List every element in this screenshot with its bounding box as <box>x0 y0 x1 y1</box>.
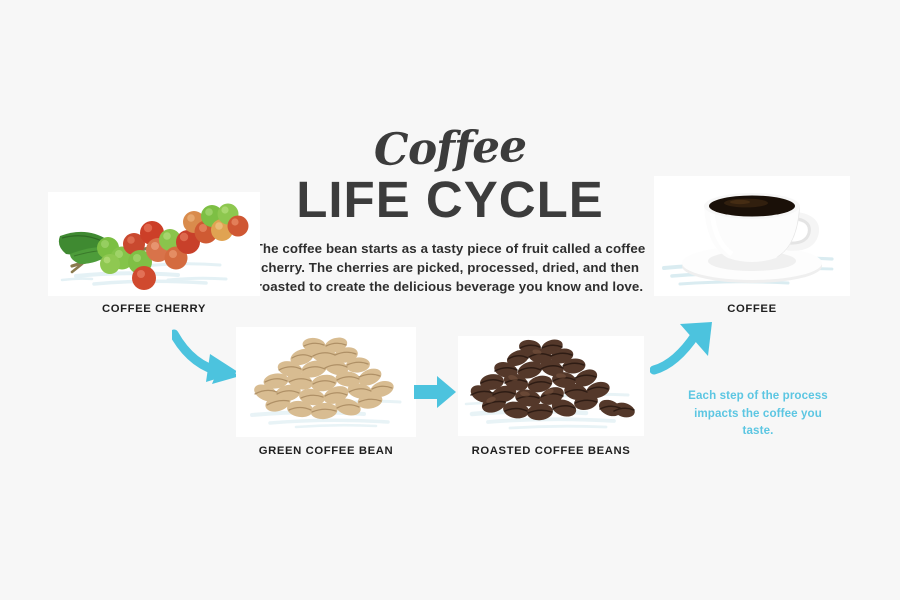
script-title: Coffee <box>249 120 650 178</box>
arrow-roasted-to-coffee-icon <box>650 318 722 380</box>
green-coffee-bean-pile-photo <box>236 327 416 437</box>
caption-green-coffee-bean: GREEN COFFEE BEAN <box>236 445 416 457</box>
roasted-coffee-bean-pile-photo <box>458 336 644 436</box>
side-note-text: Each step of the process impacts the cof… <box>688 387 828 440</box>
caption-coffee-cherry: COFFEE CHERRY <box>48 303 260 315</box>
page-title: LIFE CYCLE <box>250 173 650 227</box>
headline-block: Coffee LIFE CYCLE The coffee bean starts… <box>250 125 650 296</box>
arrow-cherry-to-green-icon <box>172 322 244 384</box>
arrow-green-to-roasted-icon <box>412 372 458 412</box>
intro-paragraph: The coffee bean starts as a tasty piece … <box>250 239 650 296</box>
coffee-cherry-branch-photo <box>48 192 260 296</box>
roasted-coffee-beans-image-panel <box>458 336 644 436</box>
green-coffee-bean-image-panel <box>236 327 416 437</box>
caption-coffee: COFFEE <box>654 303 850 315</box>
caption-roasted-coffee-beans: ROASTED COFFEE BEANS <box>458 445 644 457</box>
coffee-cup-image-panel <box>654 176 850 296</box>
coffee-cup-saucer-photo <box>654 176 850 296</box>
coffee-cherry-image-panel <box>48 192 260 296</box>
coffee-life-cycle-infographic: Coffee LIFE CYCLE The coffee bean starts… <box>0 0 900 600</box>
